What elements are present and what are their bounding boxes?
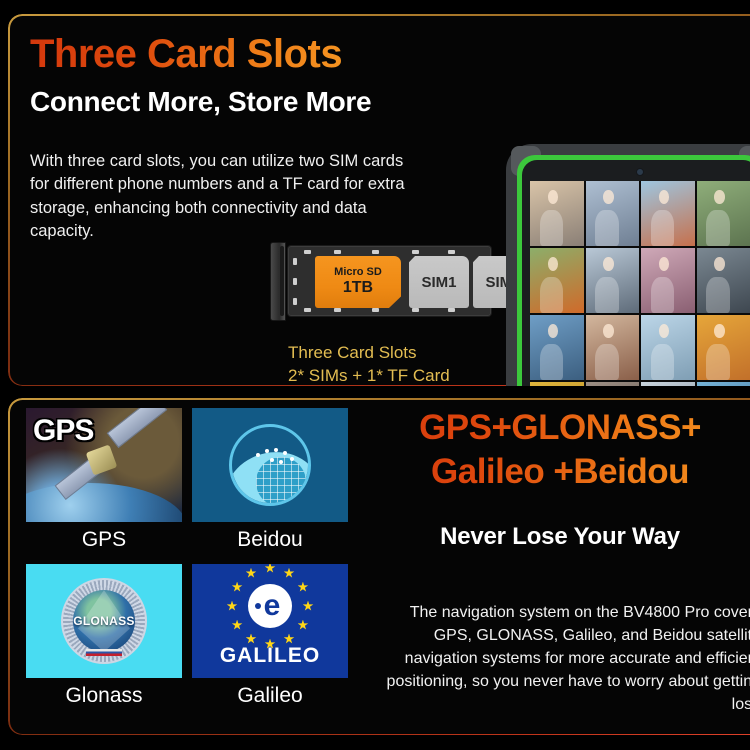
galileo-art-text: GALILEO <box>192 644 348 668</box>
tile-glonass: GLONASS Glonass <box>26 564 182 716</box>
sim1-card: SIM1 <box>409 256 469 308</box>
eu-star-icon <box>303 601 314 612</box>
navigation-title-line-1: GPS+GLONASS+ <box>360 406 750 450</box>
tile-gps: GPS GPS <box>26 408 182 560</box>
eu-star-icon <box>284 633 295 644</box>
page-root: Three Card Slots Connect More, Store Mor… <box>0 0 750 750</box>
microsd-card: Micro SD 1TB <box>315 256 401 308</box>
eu-star-icon <box>232 582 243 593</box>
eu-star-icon <box>246 633 257 644</box>
glonass-art-text: GLONASS <box>73 614 134 628</box>
eu-star-icon <box>284 568 295 579</box>
beidou-logo-icon <box>192 408 348 522</box>
eu-star-icon <box>232 620 243 631</box>
sim-tray-caption: Three Card Slots 2* SIMs + 1* TF Card <box>288 341 450 386</box>
eu-star-icon <box>297 582 308 593</box>
eu-star-icon <box>227 601 238 612</box>
sim-tray-body: Micro SD 1TB SIM1 SIM2 <box>287 245 492 317</box>
tile-label-beidou: Beidou <box>192 522 348 560</box>
card-slots-description: With three card slots, you can utilize t… <box>30 150 420 244</box>
page-title: Three Card Slots <box>30 32 342 77</box>
tile-label-gps: GPS <box>26 522 182 560</box>
navigation-title: GPS+GLONASS+ Galileo +Beidou <box>360 406 750 494</box>
gps-art-text: GPS <box>33 414 93 448</box>
tile-galileo: e GALILEO Galileo <box>192 564 348 716</box>
glonass-logo-icon: GLONASS <box>26 564 182 678</box>
tile-beidou: Beidou <box>192 408 348 560</box>
three-card-slots-panel: Three Card Slots Connect More, Store Mor… <box>8 14 750 386</box>
caption-line-2: 2* SIMs + 1* TF Card <box>288 364 450 386</box>
sim-tray-illustration: Micro SD 1TB SIM1 SIM2 <box>270 245 492 317</box>
tile-label-glonass: Glonass <box>26 678 182 716</box>
microsd-capacity: 1TB <box>343 280 373 297</box>
eu-star-icon <box>265 564 276 574</box>
page-subtitle: Connect More, Store More <box>30 86 371 118</box>
phone-screen-gallery <box>530 181 750 386</box>
galileo-e-mark: e <box>248 584 292 628</box>
phone-bezel <box>522 160 750 386</box>
eu-star-icon <box>246 568 257 579</box>
microsd-label: Micro SD <box>334 267 382 279</box>
sim-tray-handle <box>270 242 286 321</box>
satellite-tile-grid: GPS GPS <box>26 408 348 716</box>
navigation-subtitle: Never Lose Your Way <box>360 523 750 551</box>
front-camera-icon <box>636 168 644 176</box>
eu-star-icon <box>297 620 308 631</box>
tile-beidou-image <box>192 408 348 522</box>
tile-galileo-image: e GALILEO <box>192 564 348 678</box>
tile-label-galileo: Galileo <box>192 678 348 716</box>
phone-product-image <box>506 144 750 386</box>
caption-line-1: Three Card Slots <box>288 341 450 364</box>
tile-gps-image: GPS <box>26 408 182 522</box>
navigation-title-line-2: Galileo +Beidou <box>360 450 750 494</box>
tile-glonass-image: GLONASS <box>26 564 182 678</box>
navigation-systems-panel: GPS GPS <box>8 398 750 735</box>
navigation-description: The navigation system on the BV4800 Pro … <box>376 601 750 716</box>
galileo-logo-icon: e GALILEO <box>192 564 348 678</box>
